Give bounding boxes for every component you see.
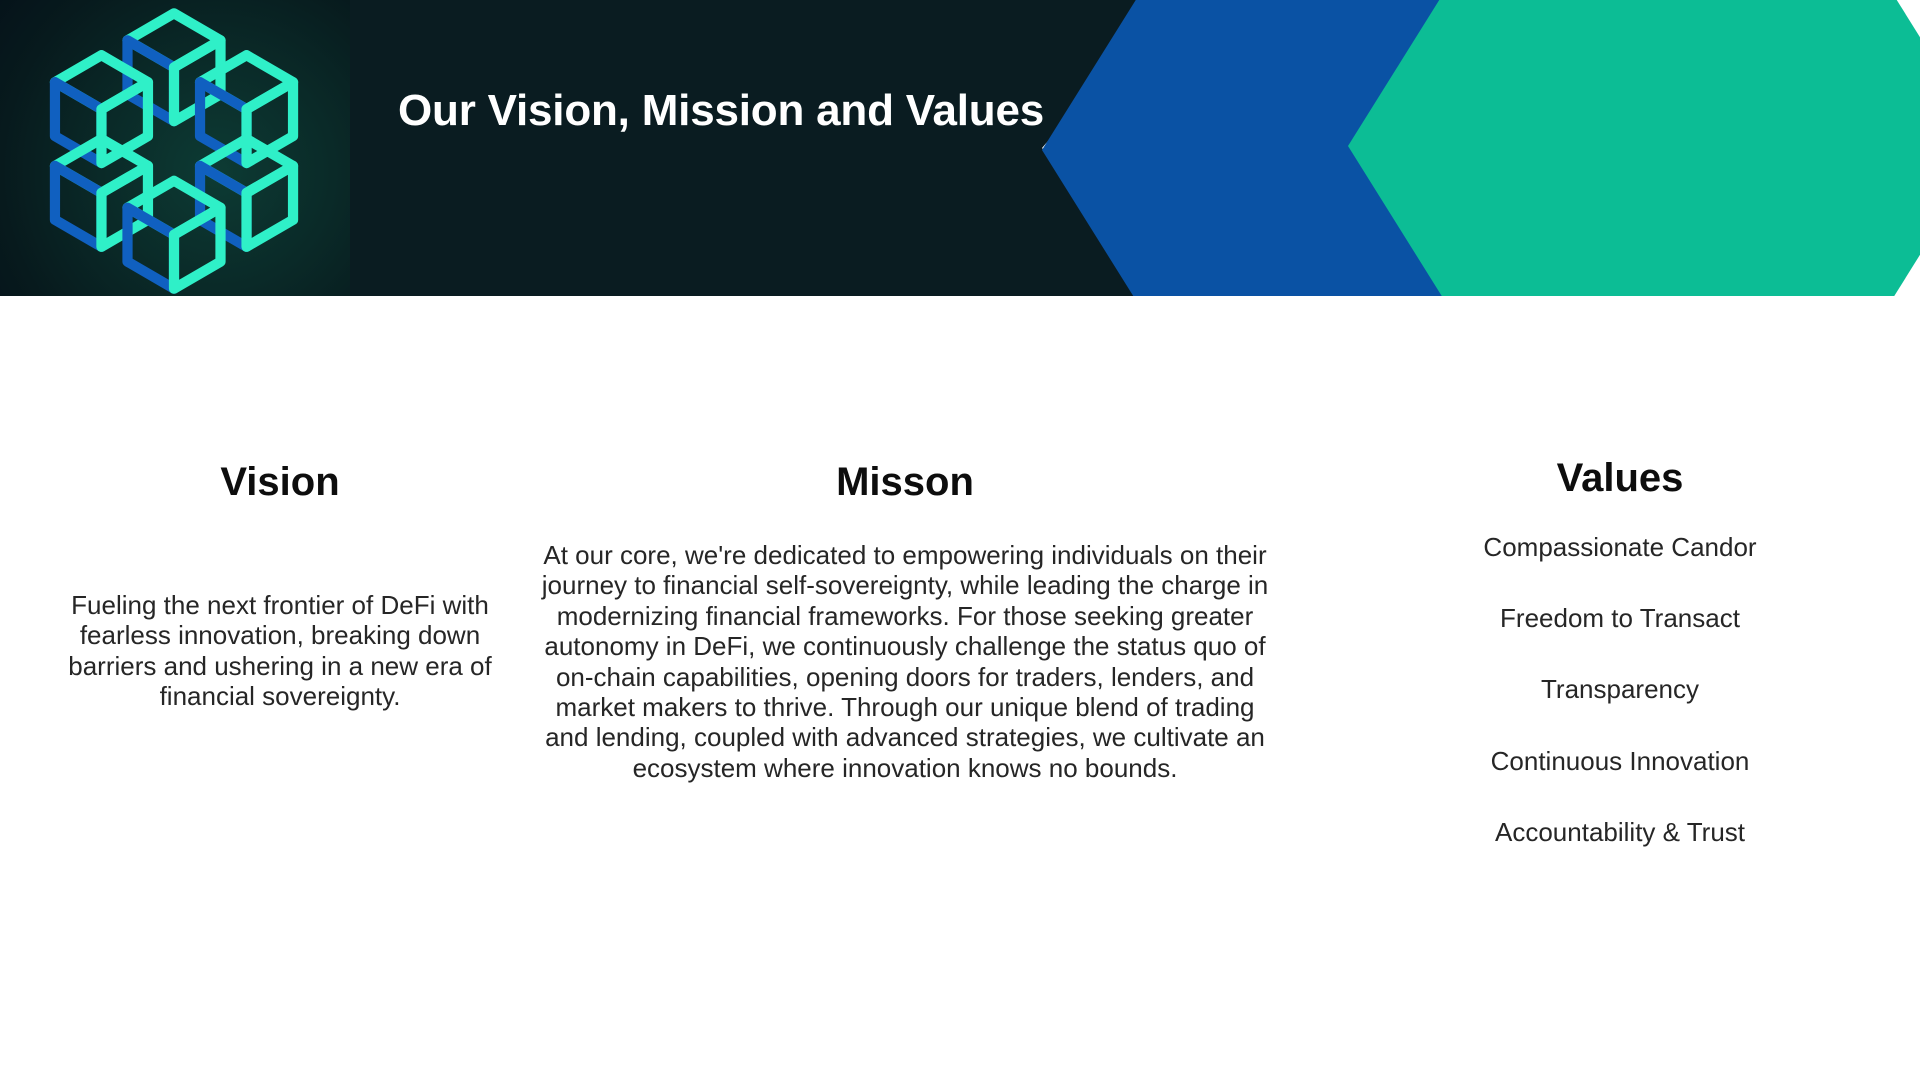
mission-heading: Misson <box>530 460 1280 504</box>
list-item: Continuous Innovation <box>1400 746 1840 777</box>
vision-heading: Vision <box>40 460 520 504</box>
values-heading: Values <box>1400 456 1840 500</box>
column-values: Values Compassionate Candor Freedom to T… <box>1400 296 1840 848</box>
values-list: Compassionate Candor Freedom to Transact… <box>1400 532 1840 848</box>
list-item: Accountability & Trust <box>1400 817 1840 848</box>
list-item: Freedom to Transact <box>1400 603 1840 634</box>
isometric-cube-cluster-logo <box>14 6 334 296</box>
hexagon-green-accent <box>1348 0 1920 296</box>
list-item: Compassionate Candor <box>1400 532 1840 563</box>
mission-body: At our core, we're dedicated to empoweri… <box>530 540 1280 783</box>
page-title: Our Vision, Mission and Values <box>398 86 1044 136</box>
list-item: Transparency <box>1400 674 1840 705</box>
slide: Our Vision, Mission and Values Vision Fu… <box>0 0 1920 1080</box>
logo-tile <box>0 0 350 296</box>
column-vision: Vision Fueling the next frontier of DeFi… <box>40 296 520 712</box>
slide-header: Our Vision, Mission and Values <box>0 0 1920 296</box>
vision-body: Fueling the next frontier of DeFi with f… <box>40 590 520 712</box>
column-mission: Misson At our core, we're dedicated to e… <box>530 296 1280 783</box>
content-area: Vision Fueling the next frontier of DeFi… <box>0 296 1920 1080</box>
